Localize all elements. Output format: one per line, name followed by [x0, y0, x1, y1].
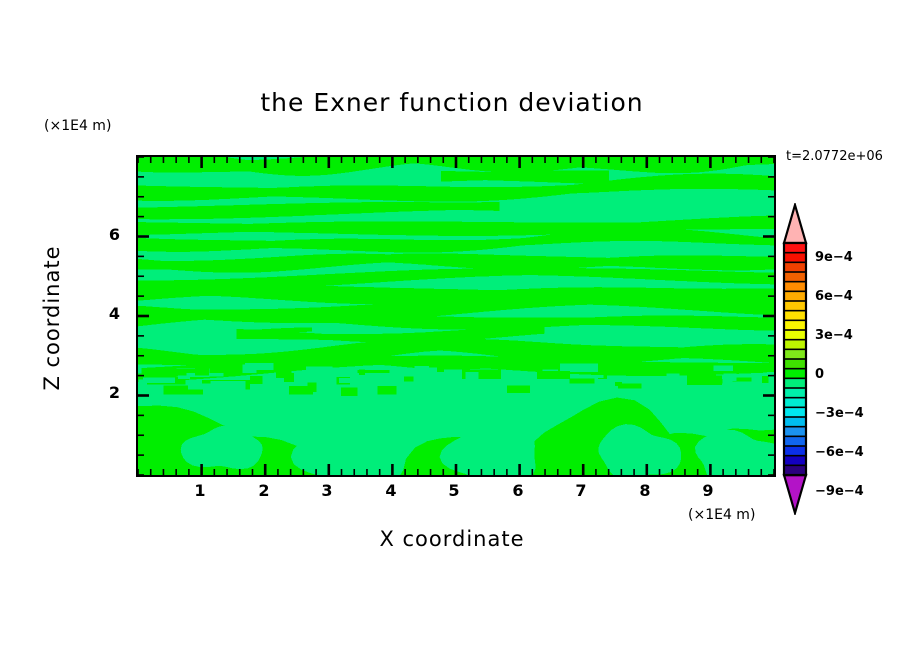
- x-tick-label: 1: [185, 481, 215, 500]
- y-tick-label: 2: [92, 383, 120, 402]
- timestamp-annotation: t=2.0772e+06: [786, 149, 883, 164]
- colorbar-swatches: [779, 203, 813, 515]
- x-tick-label: 7: [566, 481, 596, 500]
- y-axis-unit-label: (×1E4 m): [44, 118, 111, 134]
- colorbar-tick-label: −3e−4: [815, 406, 864, 421]
- colorbar: [779, 203, 813, 515]
- x-tick-label: 5: [439, 481, 469, 500]
- colorbar-tick-label: 9e−4: [815, 250, 853, 265]
- x-axis-title: X coordinate: [0, 527, 904, 551]
- y-tick-label: 4: [92, 304, 120, 323]
- colorbar-tick-label: −6e−4: [815, 445, 864, 460]
- x-axis-unit-label: (×1E4 m): [688, 507, 755, 523]
- x-tick-label: 2: [249, 481, 279, 500]
- colorbar-tick-label: 0: [815, 367, 824, 382]
- contour-plot-area: [136, 155, 776, 477]
- page-title: the Exner function deviation: [0, 88, 904, 117]
- colorbar-tick-label: 3e−4: [815, 328, 853, 343]
- x-tick-label: 8: [630, 481, 660, 500]
- z-axis-title: Z coordinate: [40, 233, 64, 403]
- contour-field: [138, 157, 774, 475]
- x-tick-label: 4: [376, 481, 406, 500]
- x-tick-label: 9: [693, 481, 723, 500]
- x-tick-label: 6: [503, 481, 533, 500]
- y-tick-label: 6: [92, 225, 120, 244]
- colorbar-tick-label: −9e−4: [815, 484, 864, 499]
- colorbar-tick-label: 6e−4: [815, 289, 853, 304]
- x-tick-label: 3: [312, 481, 342, 500]
